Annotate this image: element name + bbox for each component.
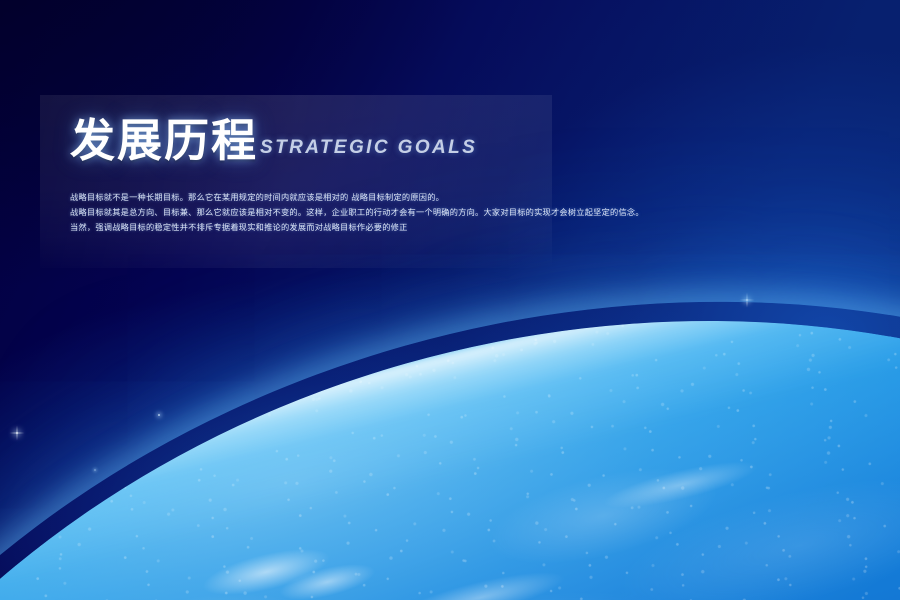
body-line: 当然，强调战略目标的稳定性并不排斥专据着现实和推论的发展而对战略目标作必要的修正 (70, 220, 870, 235)
body-copy: 战略目标就不是一种长期目标。那么它在某用规定的时间内就应该是相对的 战略目标制定… (70, 190, 870, 235)
body-line: 战略目标就不是一种长期目标。那么它在某用规定的时间内就应该是相对的 战略目标制定… (70, 190, 870, 205)
star-upper-mid (158, 414, 160, 416)
page-title: 发展历程 STRATEGIC GOALS (70, 118, 477, 163)
banner-stage: 发展历程 STRATEGIC GOALS 战略目标就不是一种长期目标。那么它在某… (0, 0, 900, 600)
body-line: 战略目标就其是总方向、目标兼、那么它就应该是相对不变的。这样，企业职工的行动才会… (70, 205, 870, 220)
page-title-cn: 发展历程 (70, 118, 258, 163)
page-title-en: STRATEGIC GOALS (260, 137, 477, 163)
